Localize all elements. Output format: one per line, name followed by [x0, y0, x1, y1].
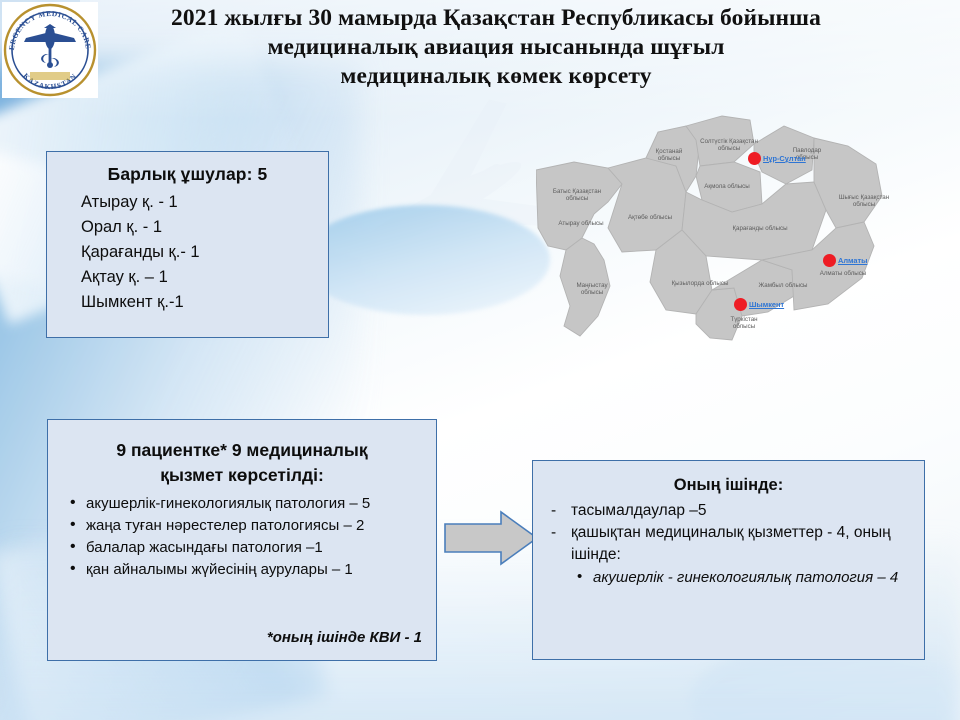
list-item: акушерлік - гинекологиялық патология – 4 [577, 567, 924, 588]
map-region-label: Ақмола облысы [690, 183, 764, 190]
map-region-label: Маңғыстау облысы [564, 282, 620, 297]
map-marker-shymkent: Шымкент [734, 298, 784, 311]
list-item: Шымкент қ.-1 [81, 290, 328, 315]
map-city-label: Шымкент [749, 300, 784, 309]
services-footnote: *оның ішінде КВИ - 1 [267, 629, 422, 646]
flights-panel-header: Барлық ұшулар: 5 [47, 152, 328, 187]
background-ellipse-1 [300, 205, 550, 315]
list-item: Ақтау қ. – 1 [81, 265, 328, 290]
map-marker-dot [748, 152, 761, 165]
flights-list: Атырау қ. - 1 Орал қ. - 1 Қарағанды қ.- … [47, 187, 328, 315]
list-item: қан айналымы жүйесінің аурулары – 1 [66, 559, 426, 580]
slide: EMERGENCY MEDICAL CARE OF KAZAKHSTAN 202… [0, 0, 960, 720]
map-city-label: Алматы [838, 256, 867, 265]
flights-panel: Барлық ұшулар: 5 Атырау қ. - 1 Орал қ. -… [46, 151, 329, 338]
right-arrow-icon [443, 510, 539, 566]
breakdown-list: тасымалдаулар –5 қашықтан медициналық қы… [533, 498, 924, 566]
list-item: Орал қ. - 1 [81, 215, 328, 240]
map-region-label: Батыс Қазақстан облысы [538, 188, 616, 203]
services-panel: 9 пациентке* 9 медициналық қызмет көрсет… [47, 419, 437, 661]
map-region-label: Жамбыл облысы [746, 282, 820, 289]
kazakhstan-map: Солтүстік Қазақстан облысы Қостанай облы… [536, 110, 948, 350]
list-item: жаңа туған нәрестелер патологиясы – 2 [66, 515, 426, 536]
breakdown-panel-header: Оның ішінде: [533, 461, 924, 498]
map-region-label: Қостанай облысы [641, 148, 697, 163]
title-line-2: медициналық авиация нысанында шұғыл [96, 33, 896, 62]
map-region-label: Қарағанды облысы [712, 225, 808, 232]
services-header-line-1: 9 пациентке* 9 медициналық [70, 438, 414, 463]
breakdown-sub-list: акушерлік - гинекологиялық патология – 4 [533, 566, 924, 588]
map-city-label: Нұр-Сұлтан [763, 154, 806, 163]
map-region-label: Қызылорда облысы [659, 280, 741, 287]
map-region-label: Шығыс Қазақстан облысы [824, 194, 904, 209]
breakdown-panel: Оның ішінде: тасымалдаулар –5 қашықтан м… [532, 460, 925, 660]
list-item: қашықтан медициналық қызметтер - 4, оның… [543, 522, 910, 566]
services-list: акушерлік-гинекологиялық патология – 5 ж… [48, 488, 436, 580]
map-marker-dot [734, 298, 747, 311]
map-marker-dot [823, 254, 836, 267]
map-region-label: Ақтөбе облысы [610, 214, 690, 221]
map-region-label: Атырау облысы [544, 220, 618, 227]
map-region-label: Түркістан облысы [716, 316, 772, 331]
services-header-line-2: қызмет көрсетілді: [70, 463, 414, 488]
page-title: 2021 жылғы 30 мамырда Қазақстан Республи… [96, 4, 896, 91]
title-line-1: 2021 жылғы 30 мамырда Қазақстан Республи… [96, 4, 896, 33]
map-region-label: Солтүстік Қазақстан облысы [686, 138, 772, 153]
title-line-3: медициналық көмек көрсету [96, 62, 896, 91]
map-region-label: Алматы облысы [806, 270, 880, 277]
list-item: балалар жасындағы патология –1 [66, 537, 426, 558]
list-item: акушерлік-гинекологиялық патология – 5 [66, 493, 426, 514]
list-item: Қарағанды қ.- 1 [81, 240, 328, 265]
map-marker-almaty: Алматы [823, 254, 867, 267]
list-item: тасымалдаулар –5 [543, 500, 910, 522]
map-marker-nur-sultan: Нұр-Сұлтан [748, 152, 806, 165]
services-panel-header: 9 пациентке* 9 медициналық қызмет көрсет… [48, 420, 436, 488]
list-item: Атырау қ. - 1 [81, 190, 328, 215]
organization-logo: EMERGENCY MEDICAL CARE OF KAZAKHSTAN [2, 2, 98, 98]
